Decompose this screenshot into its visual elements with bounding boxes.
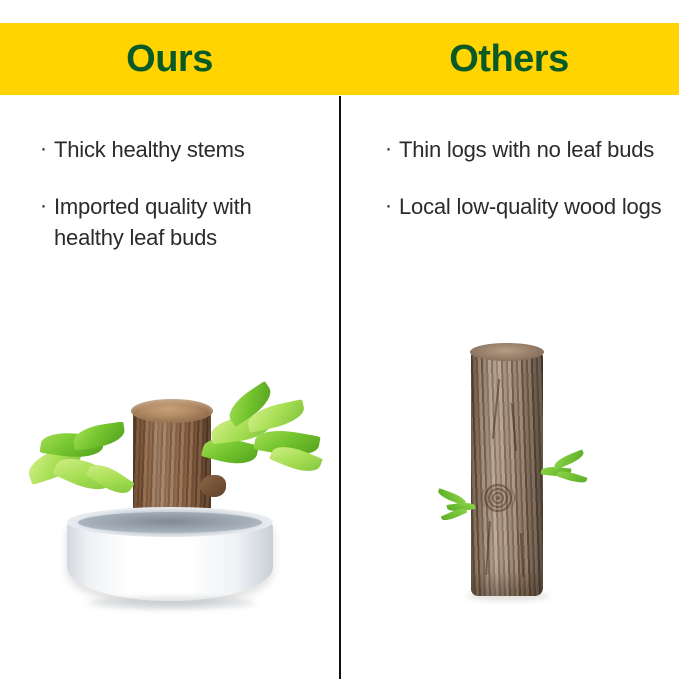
bullet-dot-icon: ·	[40, 134, 47, 164]
log-top-cut-face	[470, 343, 544, 361]
column-ours: · Thick healthy stems · Imported quality…	[0, 96, 339, 679]
list-item: · Local low-quality wood logs	[385, 191, 665, 222]
list-item: · Thick healthy stems	[40, 134, 325, 165]
left-sprout-icon	[431, 491, 479, 523]
right-sprout-icon	[539, 451, 593, 491]
others-heading: Others	[449, 40, 568, 78]
bowl-drop-shadow	[87, 597, 255, 609]
right-leaf-cluster-icon	[203, 387, 323, 487]
banner-cell-others: Others	[339, 23, 679, 95]
comparison-columns: · Thick healthy stems · Imported quality…	[0, 96, 679, 679]
bullet-text: Thick healthy stems	[54, 134, 245, 165]
bullet-dot-icon: ·	[385, 191, 392, 221]
banner-cell-ours: Ours	[0, 23, 339, 95]
others-product-image-stage	[339, 319, 679, 679]
ours-bullet-list: · Thick healthy stems · Imported quality…	[40, 134, 325, 279]
ours-heading: Ours	[126, 40, 213, 78]
bowl-inner-cavity	[78, 512, 262, 533]
bullet-dot-icon: ·	[385, 134, 392, 164]
comparison-infographic: Ours Others · Thick healthy stems · Impo…	[0, 0, 679, 679]
bullet-dot-icon: ·	[40, 191, 47, 221]
ours-product-image-stage	[0, 319, 339, 679]
bullet-text: Thin logs with no leaf buds	[399, 134, 654, 165]
log-top-cut-face	[131, 399, 213, 423]
lucky-bamboo-log-in-white-ceramic-bowl-image	[25, 359, 315, 609]
left-leaf-cluster-icon	[25, 421, 145, 511]
white-ceramic-bowl	[67, 507, 273, 607]
list-item: · Imported quality with healthy leaf bud…	[40, 191, 325, 253]
bullet-text: Imported quality with healthy leaf buds	[54, 191, 325, 253]
others-bullet-list: · Thin logs with no leaf buds · Local lo…	[385, 134, 665, 248]
bark-knot	[481, 483, 515, 513]
comparison-header-banner: Ours Others	[0, 23, 679, 95]
tall-bare-wood-log	[471, 351, 543, 596]
bare-wood-log-with-tiny-sprouts-image	[409, 343, 609, 603]
list-item: · Thin logs with no leaf buds	[385, 134, 665, 165]
column-others: · Thin logs with no leaf buds · Local lo…	[339, 96, 679, 679]
bullet-text: Local low-quality wood logs	[399, 191, 661, 222]
